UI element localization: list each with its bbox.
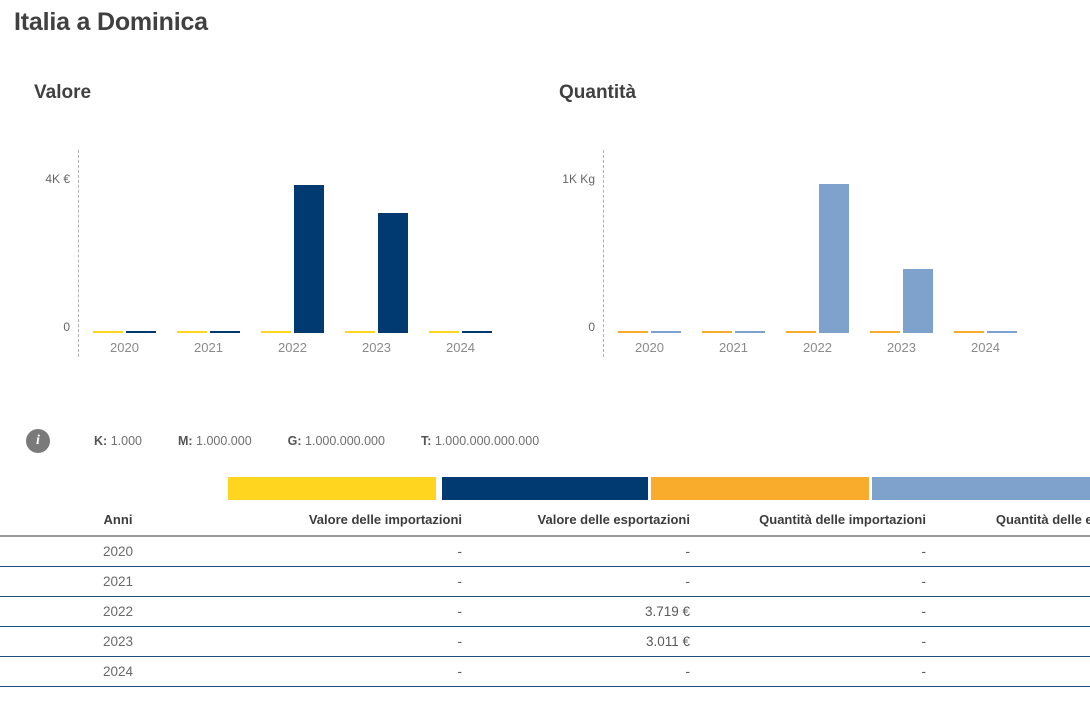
data-table: Anni Valore delle importazioni Valore de… [0,508,1090,687]
y-axis-labels-valore: 4K € 0 [10,148,70,363]
legend-swatch-2[interactable] [442,477,648,500]
bars-area-valore: 20202021202220232024 [79,150,504,357]
bar-rect [618,331,648,333]
cell-quantita-importazioni: - [698,597,934,627]
abbreviation-g: G: 1.000.000.000 [288,434,385,448]
column-header-valore-importazioni[interactable]: Valore delle importazioni [236,508,470,536]
abbreviation-k-value: 1.000 [111,434,142,448]
x-axis-tick-2024: 2024 [429,340,492,355]
bar-group-2021: 2021 [177,150,240,333]
abbreviation-g-value: 1.000.000.000 [305,434,385,448]
cell-valore-esportazioni: 3.719 € [470,597,698,627]
legend-swatch-1[interactable] [228,477,436,500]
abbreviations-row: i K: 1.000 M: 1.000.000 G: 1.000.000.000… [26,424,539,458]
legend-swatch-3[interactable] [651,477,869,500]
bar-group-2023: 2023 [345,150,408,333]
bar-rect [210,331,240,333]
cell-year: 2024 [0,657,236,687]
abbreviation-m-symbol: M: [178,434,193,448]
cell-year: 2022 [0,597,236,627]
bar-group-2023: 2023 [870,150,933,333]
bar-group-2024: 2024 [429,150,492,333]
x-axis-tick-2021: 2021 [177,340,240,355]
bar-2024-series-2[interactable] [462,150,492,333]
cell-quantita-importazioni: - [698,536,934,567]
cell-quantita-esportazioni: - [934,657,1090,687]
bar-rect [786,331,816,333]
abbreviation-m-value: 1.000.000 [196,434,252,448]
bar-rect [702,331,732,333]
cell-valore-importazioni: - [236,657,470,687]
table-row[interactable]: 2020---- [0,536,1090,567]
bar-2024-series-1[interactable] [429,150,459,333]
column-header-anni[interactable]: Anni [0,508,236,536]
bar-group-2020: 2020 [93,150,156,333]
abbreviation-t: T: 1.000.000.000.000 [421,434,539,448]
cell-valore-importazioni: - [236,627,470,657]
bar-rect [735,331,765,333]
bar-group-2020: 2020 [618,150,681,333]
bar-2022-series-2[interactable] [819,150,849,333]
chart-plot-quantita: 1K Kg 0 20202021202220232024 [535,148,1035,363]
bar-2023-series-2[interactable] [378,150,408,333]
bars-area-quantita: 20202021202220232024 [604,150,1029,357]
chart-plot-valore: 4K € 0 20202021202220232024 [10,148,510,363]
bar-rect [294,185,324,333]
charts-container: Valore 4K € 0 20202021202220232024 Quant… [0,70,1090,400]
x-axis-tick-2020: 2020 [618,340,681,355]
bar-2024-series-1[interactable] [954,150,984,333]
bar-2021-series-2[interactable] [210,150,240,333]
bar-rect [429,331,459,333]
table-body: 2020----2021----2022-3.719 €-1.034 Kg202… [0,536,1090,687]
bar-2023-series-1[interactable] [345,150,375,333]
abbreviation-t-value: 1.000.000.000.000 [435,434,539,448]
bar-2022-series-2[interactable] [294,150,324,333]
x-axis-tick-2022: 2022 [261,340,324,355]
x-axis-tick-2022: 2022 [786,340,849,355]
info-icon[interactable]: i [26,429,50,453]
bar-2020-series-2[interactable] [126,150,156,333]
bar-rect [954,331,984,333]
column-header-valore-esportazioni[interactable]: Valore delle esportazioni [470,508,698,536]
bar-rect [177,331,207,333]
chart-title-valore: Valore [34,82,91,104]
page-title: Italia a Dominica [14,8,208,37]
table-header-row: Anni Valore delle importazioni Valore de… [0,508,1090,536]
cell-quantita-importazioni: - [698,627,934,657]
chart-panel-quantita: Quantità 1K Kg 0 20202021202220232024 [535,70,1035,400]
bar-group-2022: 2022 [786,150,849,333]
bar-2020-series-1[interactable] [93,150,123,333]
column-header-quantita-esportazioni[interactable]: Quantità delle esportazioni [934,508,1090,536]
bar-2023-series-2[interactable] [903,150,933,333]
cell-quantita-esportazioni: - [934,567,1090,597]
x-axis-tick-2023: 2023 [870,340,933,355]
chart-panel-valore: Valore 4K € 0 20202021202220232024 [10,70,510,400]
cell-year: 2020 [0,536,236,567]
bar-2022-series-1[interactable] [261,150,291,333]
abbreviation-t-symbol: T: [421,434,431,448]
bar-rect [261,331,291,333]
bar-2020-series-2[interactable] [651,150,681,333]
x-axis-tick-2021: 2021 [702,340,765,355]
y-axis-zero-label-valore: 0 [63,320,70,334]
x-axis-tick-2023: 2023 [345,340,408,355]
cell-valore-esportazioni: - [470,657,698,687]
cell-quantita-esportazioni: - [934,536,1090,567]
bar-rect [870,331,900,333]
abbreviation-k-symbol: K: [94,434,107,448]
bar-group-2024: 2024 [954,150,1017,333]
cell-valore-importazioni: - [236,536,470,567]
legend-swatch-4[interactable] [872,477,1090,500]
cell-quantita-importazioni: - [698,657,934,687]
cell-quantita-importazioni: - [698,567,934,597]
cell-quantita-esportazioni: 1.034 Kg [934,597,1090,627]
bar-2021-series-1[interactable] [702,150,732,333]
table-row[interactable]: 2021---- [0,567,1090,597]
column-header-quantita-importazioni[interactable]: Quantità delle importazioni [698,508,934,536]
chart-title-quantita: Quantità [559,82,636,104]
cell-year: 2021 [0,567,236,597]
abbreviation-g-symbol: G: [288,434,302,448]
x-axis-tick-2020: 2020 [93,340,156,355]
y-axis-top-label-valore: 4K € [45,172,70,186]
bar-rect [651,331,681,333]
y-axis-top-label-quantita: 1K Kg [562,172,595,186]
cell-valore-esportazioni: - [470,567,698,597]
table-row[interactable]: 2023-3.011 €-441 Kg [0,627,1090,657]
x-axis-tick-2024: 2024 [954,340,1017,355]
table-row[interactable]: 2024---- [0,657,1090,687]
bar-2023-series-1[interactable] [870,150,900,333]
bar-group-2021: 2021 [702,150,765,333]
bar-rect [93,331,123,333]
y-axis-labels-quantita: 1K Kg 0 [535,148,595,363]
bar-2021-series-1[interactable] [177,150,207,333]
abbreviation-m: M: 1.000.000 [178,434,252,448]
bar-rect [462,331,492,333]
bar-rect [126,331,156,333]
abbreviation-k: K: 1.000 [94,434,142,448]
table-head: Anni Valore delle importazioni Valore de… [0,508,1090,536]
cell-valore-esportazioni: 3.011 € [470,627,698,657]
cell-valore-importazioni: - [236,567,470,597]
bar-rect [903,269,933,333]
bar-rect [819,184,849,333]
cell-quantita-esportazioni: 441 Kg [934,627,1090,657]
bar-rect [345,331,375,333]
cell-year: 2023 [0,627,236,657]
bar-2024-series-2[interactable] [987,150,1017,333]
bar-2020-series-1[interactable] [618,150,648,333]
bar-rect [987,331,1017,333]
bar-group-2022: 2022 [261,150,324,333]
bar-rect [378,213,408,333]
bar-2021-series-2[interactable] [735,150,765,333]
table-row[interactable]: 2022-3.719 €-1.034 Kg [0,597,1090,627]
cell-valore-importazioni: - [236,597,470,627]
cell-valore-esportazioni: - [470,536,698,567]
y-axis-zero-label-quantita: 0 [588,320,595,334]
bar-2022-series-1[interactable] [786,150,816,333]
